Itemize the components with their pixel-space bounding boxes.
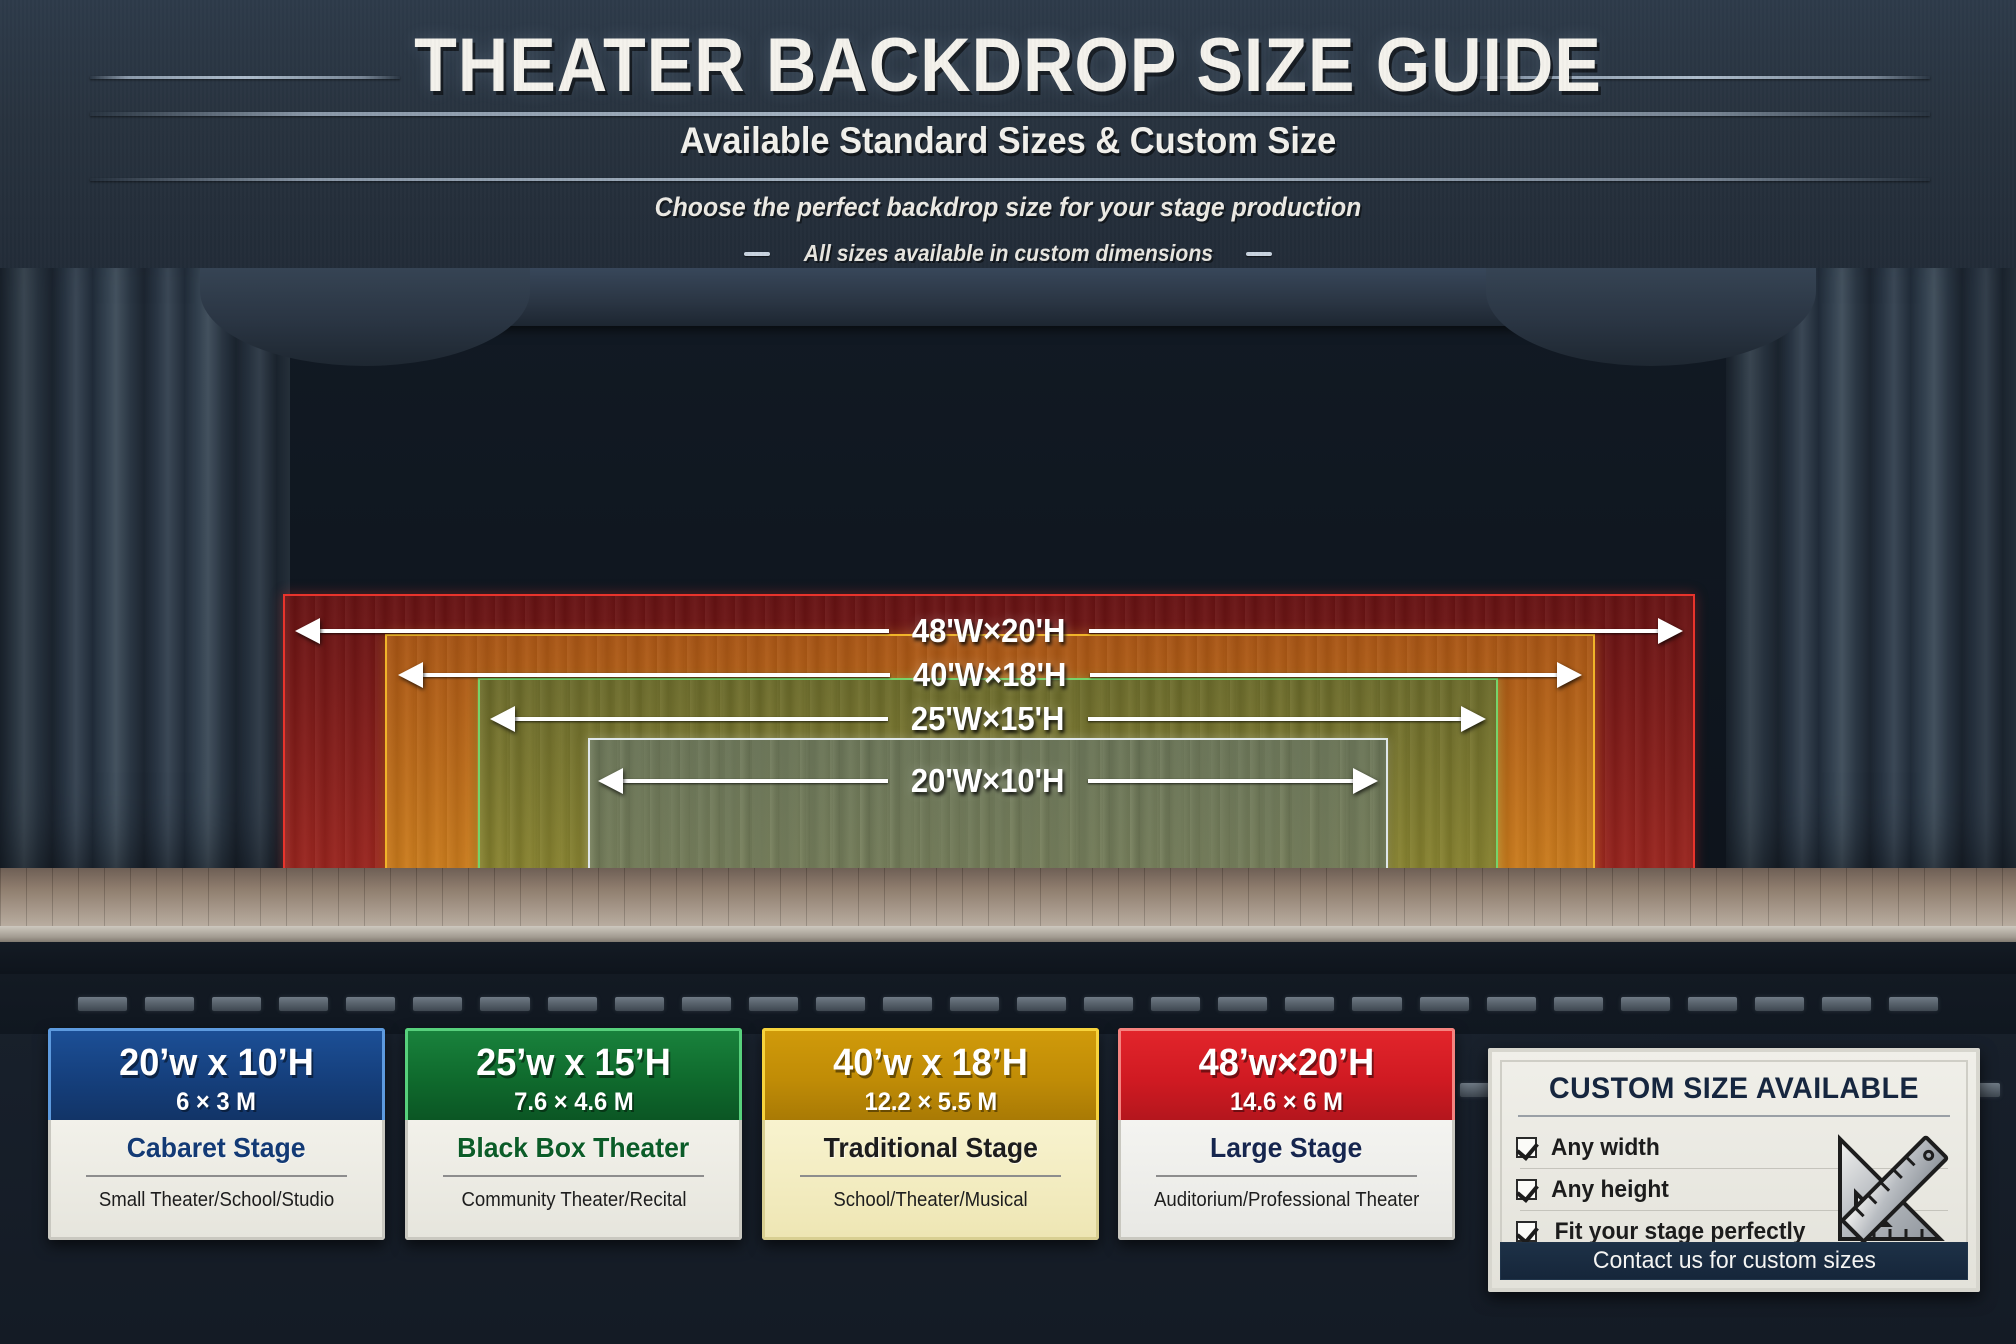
arrow-right-icon [1658, 618, 1683, 644]
custom-feature-label: Any width [1551, 1134, 1660, 1162]
dimension-row-40x18: 40'W×18'H [398, 652, 1582, 698]
arrow-right-icon [1461, 706, 1486, 732]
custom-size-divider [1518, 1115, 1950, 1117]
size-card-metric: 6 × 3 M [177, 1088, 257, 1117]
footlight [1487, 997, 1536, 1011]
dimension-row-25x15: 25'W×15'H [490, 696, 1486, 742]
stage-floor-shadow [0, 942, 2016, 974]
footlight [1285, 997, 1334, 1011]
size-card-dimensions: 20’w x 10’H [119, 1042, 314, 1085]
footlight [749, 997, 798, 1011]
footlight [480, 997, 529, 1011]
footlight [1352, 997, 1401, 1011]
dimension-line [623, 779, 888, 783]
size-card-metric: 14.6 × 6 M [1230, 1088, 1343, 1117]
custom-size-body: Any width Any height Fit your stage perf… [1516, 1127, 1952, 1252]
size-card-header: 20’w x 10’H 6 × 3 M [48, 1028, 385, 1120]
footlight [145, 997, 194, 1011]
size-card-title: Traditional Stage [823, 1132, 1037, 1164]
size-card-divider [86, 1175, 347, 1177]
size-card-body: Traditional Stage School/Theater/Musical [762, 1120, 1099, 1240]
size-card-divider [1156, 1175, 1417, 1177]
dimension-line [515, 717, 888, 721]
size-card-body: Cabaret Stage Small Theater/School/Studi… [48, 1120, 385, 1240]
footlight [883, 997, 932, 1011]
size-card-large-stage[interactable]: 48’w×20’H 14.6 × 6 M Large Stage Auditor… [1118, 1028, 1455, 1240]
checkbox-checked-icon[interactable] [1516, 1221, 1537, 1242]
size-card-header: 48’w×20’H 14.6 × 6 M [1118, 1028, 1455, 1120]
footlight [682, 997, 731, 1011]
dimension-row-48x20: 48'W×20'H [295, 608, 1683, 654]
header-rule-middle [90, 112, 1930, 116]
size-card-usage: Small Theater/School/Studio [99, 1189, 334, 1212]
arrow-left-icon [398, 662, 423, 688]
size-card-title: Black Box Theater [457, 1132, 689, 1164]
stage-floor [0, 868, 2016, 928]
size-card-title: Cabaret Stage [127, 1132, 306, 1164]
size-card-metric: 12.2 × 5.5 M [864, 1088, 997, 1117]
footlight [346, 997, 395, 1011]
footlight [1218, 997, 1267, 1011]
dimension-label-25x15: 25'W×15'H [894, 700, 1081, 738]
size-card-divider [800, 1175, 1061, 1177]
arrow-right-icon [1557, 662, 1582, 688]
footlight [1621, 997, 1670, 1011]
size-card-body: Large Stage Auditorium/Professional Thea… [1118, 1120, 1455, 1240]
size-card-usage: Auditorium/Professional Theater [1154, 1189, 1419, 1212]
footlight [1822, 997, 1871, 1011]
size-card-dimensions: 25’w x 15’H [476, 1042, 671, 1085]
custom-contact-text: Contact us for custom sizes [1593, 1247, 1876, 1275]
arrow-left-icon [490, 706, 515, 732]
dimension-line [1090, 673, 1557, 677]
arrow-left-icon [295, 618, 320, 644]
footlight [1554, 997, 1603, 1011]
footlight [548, 997, 597, 1011]
footlight [1688, 997, 1737, 1011]
footlight [1420, 997, 1469, 1011]
size-card-divider [443, 1175, 704, 1177]
curtain-left [0, 268, 290, 928]
size-card-title: Large Stage [1210, 1132, 1362, 1164]
infographic-root: THEATER BACKDROP SIZE GUIDE Available St… [0, 0, 2016, 1344]
custom-size-inner: CUSTOM SIZE AVAILABLE Any width Any heig… [1500, 1060, 1968, 1244]
footlight [1755, 997, 1804, 1011]
size-card-cabaret-stage[interactable]: 20’w x 10’H 6 × 3 M Cabaret Stage Small … [48, 1028, 385, 1240]
dash-left-icon [744, 252, 770, 256]
checkbox-checked-icon[interactable] [1516, 1179, 1537, 1200]
custom-note-text: All sizes available in custom dimensions [803, 240, 1212, 267]
dimension-line [320, 629, 889, 633]
size-card-header: 25’w x 15’H 7.6 × 4.6 M [405, 1028, 742, 1120]
ruler-triangle-icon [1830, 1131, 1958, 1249]
header-rule-lower [90, 178, 1930, 181]
page-tagline: Choose the perfect backdrop size for you… [81, 192, 1936, 223]
footlight [279, 997, 328, 1011]
footlight [816, 997, 865, 1011]
page-title: THEATER BACKDROP SIZE GUIDE [81, 22, 1936, 109]
footlight [1151, 997, 1200, 1011]
footlight [1889, 997, 1938, 1011]
dimension-line [423, 673, 890, 677]
dimension-line [1088, 779, 1353, 783]
footlight-strip [0, 974, 2016, 1034]
dimension-label-20x10: 20'W×10'H [894, 762, 1081, 800]
header: THEATER BACKDROP SIZE GUIDE Available St… [0, 0, 2016, 268]
size-card-dimensions: 40’w x 18’H [833, 1042, 1028, 1085]
custom-contact-bar[interactable]: Contact us for custom sizes [1500, 1242, 1968, 1280]
checkbox-checked-icon[interactable] [1516, 1137, 1537, 1158]
custom-size-title: CUSTOM SIZE AVAILABLE [1527, 1072, 1941, 1106]
size-card-usage: School/Theater/Musical [833, 1189, 1027, 1212]
footlight [78, 997, 127, 1011]
size-card-traditional-stage[interactable]: 40’w x 18’H 12.2 × 5.5 M Traditional Sta… [762, 1028, 1099, 1240]
size-card-body: Black Box Theater Community Theater/Reci… [405, 1120, 742, 1240]
dimension-row-20x10: 20'W×10'H [598, 758, 1378, 804]
size-card-header: 40’w x 18’H 12.2 × 5.5 M [762, 1028, 1099, 1120]
curtain-right [1726, 268, 2016, 928]
size-card-metric: 7.6 × 4.6 M [514, 1088, 633, 1117]
footlight [413, 997, 462, 1011]
arrow-left-icon [598, 768, 623, 794]
dimension-label-48x20: 48'W×20'H [895, 612, 1082, 650]
custom-size-panel[interactable]: CUSTOM SIZE AVAILABLE Any width Any heig… [1488, 1048, 1980, 1292]
footlight [950, 997, 999, 1011]
arrow-right-icon [1353, 768, 1378, 794]
footlight [212, 997, 261, 1011]
footlight [1084, 997, 1133, 1011]
dimension-label-40x18: 40'W×18'H [896, 656, 1083, 694]
footlight [1017, 997, 1066, 1011]
size-card-dimensions: 48’w×20’H [1199, 1042, 1375, 1085]
dimension-line [1088, 717, 1461, 721]
custom-feature-label: Any height [1551, 1176, 1669, 1204]
footlight [615, 997, 664, 1011]
dimension-line [1089, 629, 1658, 633]
stage-diagram: 48'W×20'H 40'W×18'H 25'W×15'H 20'W×10'H … [0, 268, 2016, 974]
page-subtitle: Available Standard Sizes & Custom Size [71, 120, 1946, 162]
dash-right-icon [1246, 252, 1272, 256]
size-card-usage: Community Theater/Recital [461, 1189, 686, 1212]
custom-note: All sizes available in custom dimensions [0, 240, 2016, 267]
size-card-black-box-theater[interactable]: 25’w x 15’H 7.6 × 4.6 M Black Box Theate… [405, 1028, 742, 1240]
